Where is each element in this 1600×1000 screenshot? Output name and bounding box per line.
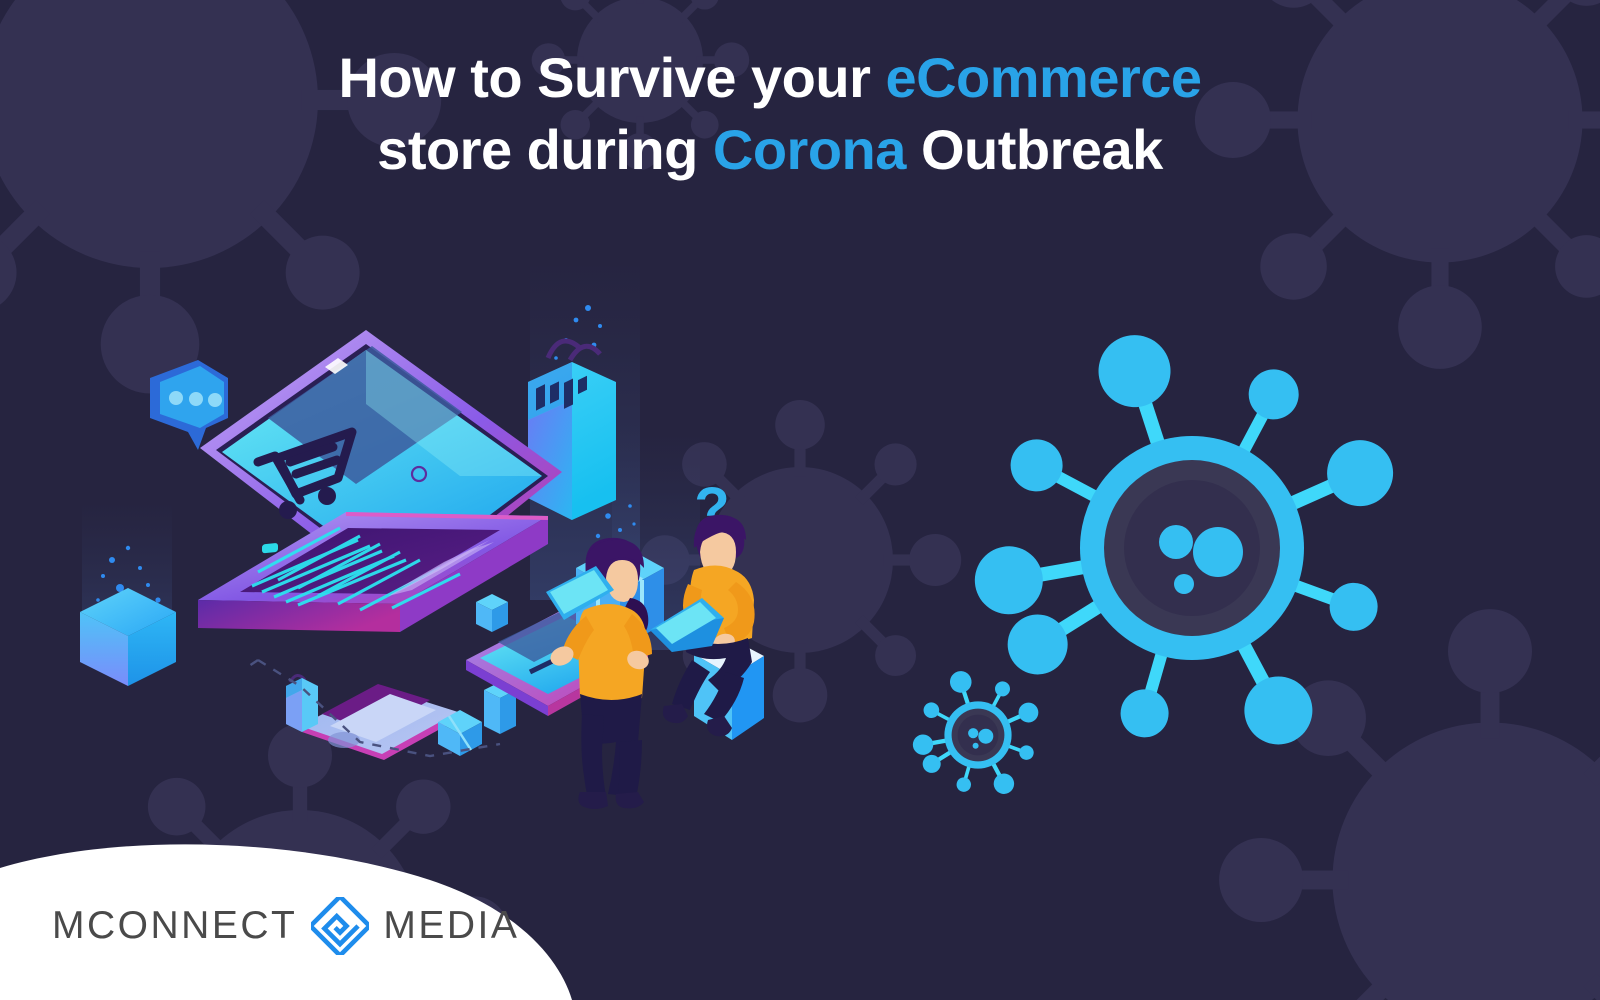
mconnect-diamond-spiral-icon xyxy=(311,897,369,955)
logo-word-left: MCONNECT xyxy=(52,904,297,948)
poster-canvas: How to Survive your eCommerce store duri… xyxy=(0,0,1600,1000)
footer-wave xyxy=(0,0,1600,1000)
brand-logo[interactable]: MCONNECT MEDIA xyxy=(52,898,519,954)
logo-word-right: MEDIA xyxy=(383,904,519,948)
